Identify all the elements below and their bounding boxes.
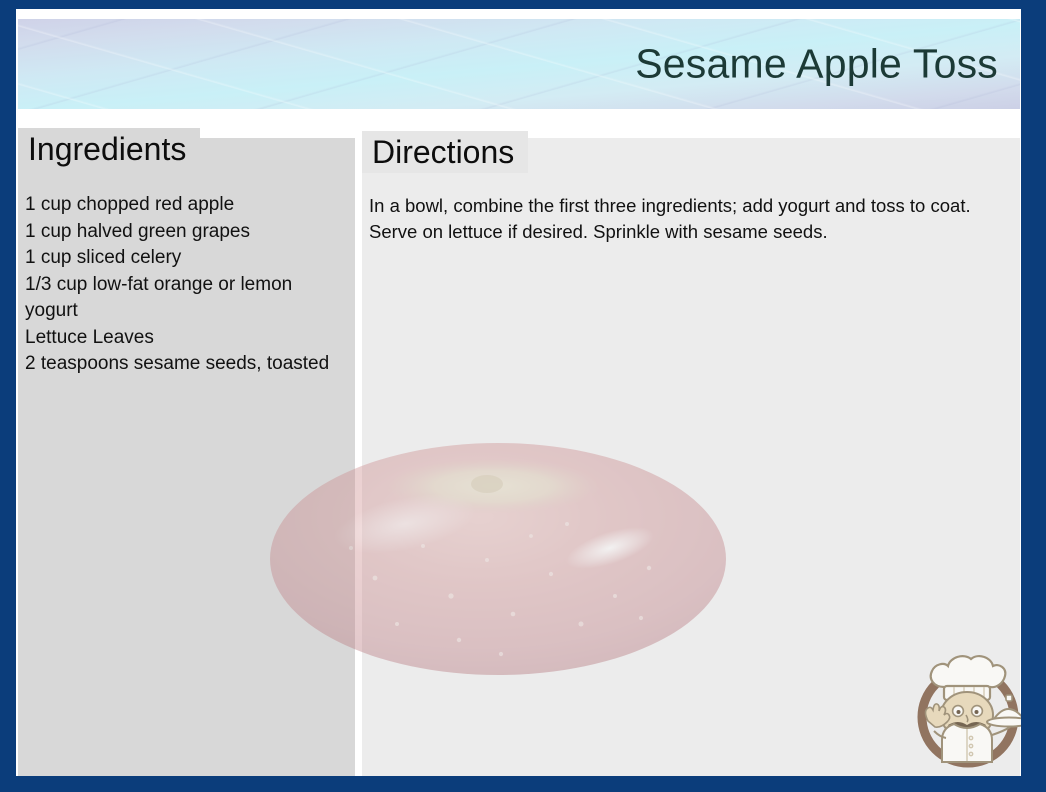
recipe-card: Sesame Apple Toss Ingredients 1 cup chop… xyxy=(0,0,1046,792)
ingredients-heading: Ingredients xyxy=(18,128,200,170)
chef-logo-icon xyxy=(908,643,1032,771)
page-title: Sesame Apple Toss xyxy=(635,41,998,88)
frame-border-left xyxy=(0,0,16,792)
title-banner: Sesame Apple Toss xyxy=(18,19,1020,109)
frame-border-right xyxy=(1021,0,1046,792)
directions-heading: Directions xyxy=(362,131,528,173)
frame-border-top xyxy=(0,0,1046,9)
ingredients-list: 1 cup chopped red apple 1 cup halved gre… xyxy=(25,192,345,378)
frame-border-bottom xyxy=(0,776,1046,792)
directions-text: In a bowl, combine the first three ingre… xyxy=(369,193,1001,245)
